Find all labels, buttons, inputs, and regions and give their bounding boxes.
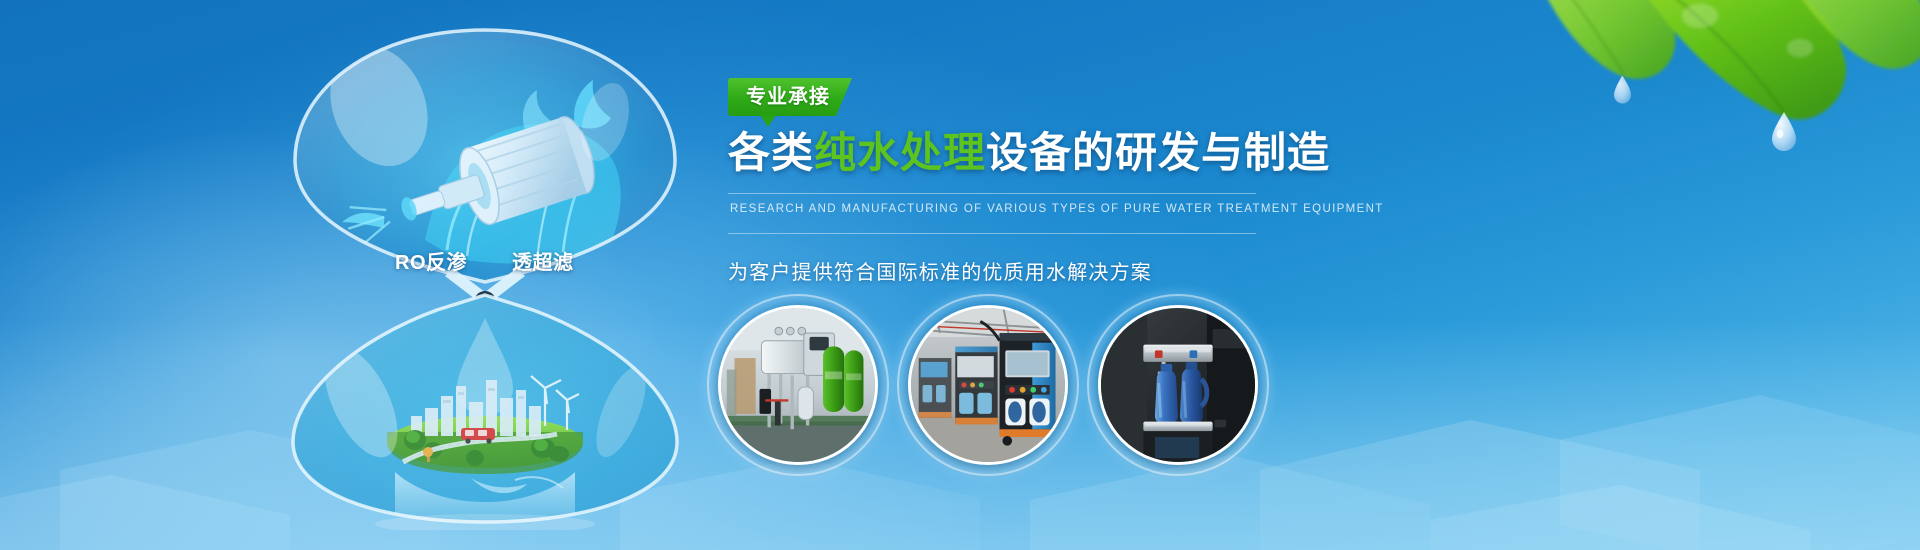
divider-top bbox=[728, 193, 1256, 194]
hourglass-graphic bbox=[275, 10, 695, 530]
product-circle-factory-machines[interactable] bbox=[908, 305, 1068, 465]
page-title: 各类纯水处理设备的研发与制造 bbox=[728, 130, 1288, 175]
subtitle-english: RESEARCH AND MANUFACTURING OF VARIOUS TY… bbox=[730, 203, 1288, 215]
circle-photo-frame bbox=[718, 305, 878, 465]
badge-pointer-tail bbox=[760, 115, 776, 127]
hourglass-label-right: 透超滤 bbox=[512, 246, 574, 275]
product-photo-gallery bbox=[718, 305, 1258, 475]
product-circle-water-treatment-system[interactable] bbox=[718, 305, 878, 465]
divider-bottom bbox=[728, 233, 1256, 234]
headline-part1: 各类 bbox=[728, 129, 814, 176]
product-circle-water-dispenser[interactable] bbox=[1098, 305, 1258, 465]
banner-text-block: 专业承接 各类纯水处理设备的研发与制造 RESEARCH AND MANUFAC… bbox=[728, 78, 1288, 285]
circle-photo-frame bbox=[908, 305, 1068, 465]
headline-part2: 设备的研发与制造 bbox=[986, 129, 1330, 176]
subtitle-chinese: 为客户提供符合国际标准的优质用水解决方案 bbox=[728, 256, 1288, 285]
leaf-icon bbox=[1500, 0, 1920, 171]
hero-banner: RO反渗 透超滤 专业承接 各类纯水处理设备的研发与制造 RESEARCH AN… bbox=[0, 0, 1920, 550]
headline-accent: 纯水处理 bbox=[814, 129, 986, 176]
circle-photo-frame bbox=[1098, 305, 1258, 465]
badge-professional-undertaking: 专业承接 bbox=[728, 78, 852, 116]
hourglass-label-left: RO反渗 bbox=[395, 246, 467, 275]
